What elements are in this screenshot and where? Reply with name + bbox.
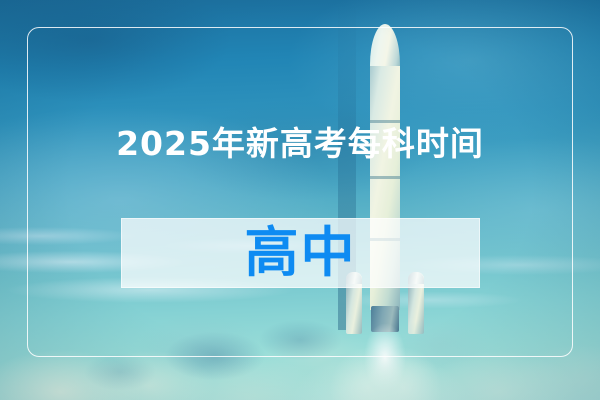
banner-title: 2025年新高考每科时间: [0, 124, 600, 164]
cover-banner: 2025年新高考每科时间 高中: [0, 0, 600, 400]
vignette-overlay: [0, 0, 600, 400]
category-label: 高中: [245, 223, 357, 283]
category-bar: 高中: [121, 218, 480, 288]
